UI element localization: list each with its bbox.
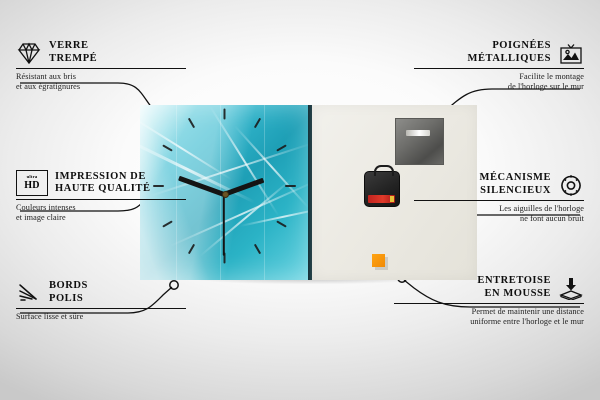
callout-mecanisme-silencieux: MÉCANISME SILENCIEUX Les aiguilles de l'… — [414, 172, 584, 224]
clock-tick — [188, 244, 195, 255]
clock-second-hand — [223, 194, 225, 256]
divider — [414, 68, 584, 69]
clock-tick — [162, 144, 173, 151]
clock-tick — [224, 109, 226, 120]
battery — [368, 195, 395, 203]
picture-hanger-icon — [558, 41, 584, 65]
callout-desc: Permet de maintenir une distance — [394, 307, 584, 317]
foam-spacer — [372, 254, 385, 267]
clock-mechanism — [364, 171, 400, 207]
callout-verre-trempe: VERRE TREMPÉ Résistant aux bris et aux é… — [16, 40, 186, 92]
callout-desc-2: et image claire — [16, 213, 186, 223]
metal-hanger-plate — [395, 118, 444, 165]
callout-desc-2: ne font aucun bruit — [414, 214, 584, 224]
callout-desc: Couleurs intenses — [16, 203, 186, 213]
callout-desc: Les aiguilles de l'horloge — [414, 204, 584, 214]
polished-edges-icon — [16, 281, 42, 305]
callout-title-2: MÉTALLIQUES — [468, 53, 551, 66]
callout-entretoise-en-mousse: ENTRETOISE EN MOUSSE Permet de maintenir… — [394, 275, 584, 327]
callout-desc: Surface lisse et sûre — [16, 312, 186, 322]
diamond-icon — [16, 41, 42, 65]
foam-spacer-icon — [558, 276, 584, 300]
clock-tick — [188, 118, 195, 129]
clock-tick — [254, 118, 261, 129]
callout-title-2: HAUTE QUALITÉ — [55, 183, 151, 196]
callout-title: VERRE — [49, 40, 97, 53]
ultra-hd-icon-main: HD — [24, 181, 40, 191]
divider — [16, 308, 186, 309]
divider — [16, 68, 186, 69]
ultra-hd-icon: ultra HD — [16, 170, 48, 196]
callout-title-2: EN MOUSSE — [477, 288, 551, 301]
callout-desc-2: uniforme entre l'horloge et le mur — [394, 317, 584, 327]
clock-tick — [276, 220, 287, 227]
callout-title: ENTRETOISE — [477, 275, 551, 288]
callout-poignees-metalliques: POIGNÉES MÉTALLIQUES Facilite le montage… — [414, 40, 584, 92]
callout-title: IMPRESSION DE — [55, 171, 151, 184]
callout-impression-haute-qualite: ultra HD IMPRESSION DE HAUTE QUALITÉ Cou… — [16, 170, 186, 223]
callout-bords-polis: BORDS POLIS Surface lisse et sûre — [16, 280, 186, 322]
callout-desc-2: et aux égratignures — [16, 82, 186, 92]
callout-title: MÉCANISME — [480, 172, 551, 185]
callout-desc: Facilite le montage — [414, 72, 584, 82]
callout-desc-2: de l'horloge sur le mur — [414, 82, 584, 92]
clock-tick — [285, 185, 296, 187]
clock-tick — [254, 244, 261, 255]
callout-title: BORDS — [49, 280, 88, 293]
callout-title-2: TREMPÉ — [49, 53, 97, 66]
callout-title-2: POLIS — [49, 293, 88, 306]
callout-desc: Résistant aux bris — [16, 72, 186, 82]
divider — [16, 199, 186, 200]
callout-title-2: SILENCIEUX — [480, 185, 551, 198]
callout-title: POIGNÉES — [468, 40, 551, 53]
divider — [394, 303, 584, 304]
gear-icon — [558, 173, 584, 197]
clock-center-hub — [222, 191, 229, 198]
infographic-canvas: VERRE TREMPÉ Résistant aux bris et aux é… — [0, 0, 600, 400]
divider — [414, 200, 584, 201]
